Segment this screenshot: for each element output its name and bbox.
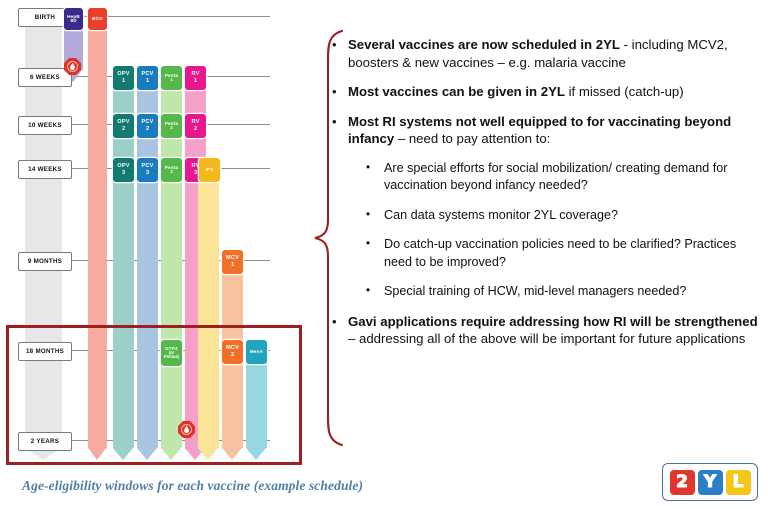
dose-badge-name: RV [191, 72, 199, 78]
sub-bullet-marker-icon: • [366, 236, 384, 271]
dose-badge-sub: 2 [146, 127, 149, 133]
dose-badge-sub: 3 [146, 171, 149, 177]
bullet-text: Most RI systems not well equipped to for… [348, 113, 758, 148]
dose-badge-name: BCG [92, 17, 103, 22]
dose-badge-pcv-3[interactable]: PCV3 [137, 158, 158, 182]
second-year-highlight-box [6, 325, 302, 465]
bullet-marker-icon: • [330, 36, 348, 71]
dose-badge-name: MCV [226, 256, 239, 262]
dose-badge-sub: 2 [170, 126, 172, 130]
bullet-item: •Several vaccines are now scheduled in 2… [330, 36, 758, 71]
sub-bullet-marker-icon: • [366, 160, 384, 195]
dose-badge-pcv-1[interactable]: PCV1 [137, 66, 158, 90]
dose-badge-rv-2[interactable]: RV2 [185, 114, 206, 138]
dose-badge-opv-2[interactable]: OPV2 [113, 114, 134, 138]
dose-badge-name: RV [191, 120, 199, 126]
dose-badge-sub: 3 [194, 171, 197, 177]
sub-bullet-marker-icon: • [366, 207, 384, 225]
dose-badge-sub: BD [70, 19, 76, 23]
slide-canvas: BIRTH6 WEEKS10 WEEKS14 WEEKS9 MONTHS18 M… [0, 0, 768, 509]
dose-badge-name: OPV [117, 120, 129, 126]
dose-badge-bcg[interactable]: BCG [88, 8, 107, 30]
dose-badge-sub: 1 [231, 263, 234, 269]
dose-badge-penta-3[interactable]: Penta3 [161, 158, 182, 182]
bullet-item: •Most RI systems not well equipped to fo… [330, 113, 758, 148]
logo-tile-l: L [726, 470, 751, 495]
sub-bullet-text: Special training of HCW, mid-level manag… [384, 283, 758, 301]
dose-badge-opv-1[interactable]: OPV1 [113, 66, 134, 90]
dose-badge-pcv-2[interactable]: PCV2 [137, 114, 158, 138]
bullet-item: •Gavi applications require addressing ho… [330, 313, 758, 348]
bullet-marker-icon: • [330, 113, 348, 148]
dose-badge-hepb-bd[interactable]: HepBBD [64, 8, 83, 30]
dose-badge-name: PCV [141, 120, 153, 126]
age-label-9-months: 9 MONTHS [18, 252, 72, 271]
dose-badge-sub: 3 [170, 170, 172, 174]
dose-badge-name: PCV [141, 164, 153, 170]
schedule-caption: Age-eligibility windows for each vaccine… [22, 478, 363, 494]
age-label-10-weeks: 10 WEEKS [18, 116, 72, 135]
dose-badge-sub: 2 [122, 127, 125, 133]
dose-badge-penta-2[interactable]: Penta2 [161, 114, 182, 138]
dose-badge-opv-3[interactable]: OPV3 [113, 158, 134, 182]
dose-badge-sub: 2 [194, 127, 197, 133]
sub-bullet-text: Are special efforts for social mobilizat… [384, 160, 758, 195]
dose-badge-sub: 1 [170, 78, 172, 82]
dose-badge-sub: 3 [122, 171, 125, 177]
sub-bullet-item: •Do catch-up vaccination policies need t… [366, 236, 758, 271]
sub-bullet-text: Can data systems monitor 2YL coverage? [384, 207, 758, 225]
bullet-text: Several vaccines are now scheduled in 2Y… [348, 36, 758, 71]
sub-bullet-group: •Are special efforts for social mobiliza… [366, 160, 758, 301]
dose-badge-name: OPV [117, 164, 129, 170]
dose-badge-penta-1[interactable]: Penta1 [161, 66, 182, 90]
age-label-14-weeks: 14 WEEKS [18, 160, 72, 179]
bullet-text: Most vaccines can be given in 2YL if mis… [348, 83, 758, 101]
bullet-marker-icon: • [330, 83, 348, 101]
polio-drop-icon [64, 58, 81, 75]
dose-badge-mcv-1[interactable]: MCV1 [222, 250, 243, 274]
dose-badge-name: IPV [205, 168, 213, 173]
sub-bullet-item: •Special training of HCW, mid-level mana… [366, 283, 758, 301]
logo-tile-2: 2 [670, 470, 695, 495]
sub-bullet-marker-icon: • [366, 283, 384, 301]
logo-tile-y: Y [698, 470, 723, 495]
dose-badge-sub: 1 [122, 79, 125, 85]
bullet-marker-icon: • [330, 313, 348, 348]
sub-bullet-text: Do catch-up vaccination policies need to… [384, 236, 758, 271]
dose-badge-name: OPV [117, 72, 129, 78]
dose-badge-ipv[interactable]: IPV [199, 158, 220, 182]
bullet-text: Gavi applications require addressing how… [348, 313, 758, 348]
sub-bullet-item: •Are special efforts for social mobiliza… [366, 160, 758, 195]
dose-badge-sub: 1 [194, 79, 197, 85]
dose-badge-rv-1[interactable]: RV1 [185, 66, 206, 90]
2yl-logo: 2YL [662, 463, 758, 501]
sub-bullet-item: •Can data systems monitor 2YL coverage? [366, 207, 758, 225]
vaccine-schedule-graphic: BIRTH6 WEEKS10 WEEKS14 WEEKS9 MONTHS18 M… [0, 0, 300, 470]
bullet-item: •Most vaccines can be given in 2YL if mi… [330, 83, 758, 101]
dose-badge-name: PCV [141, 72, 153, 78]
bullet-list: •Several vaccines are now scheduled in 2… [330, 36, 758, 360]
dose-badge-sub: 1 [146, 79, 149, 85]
